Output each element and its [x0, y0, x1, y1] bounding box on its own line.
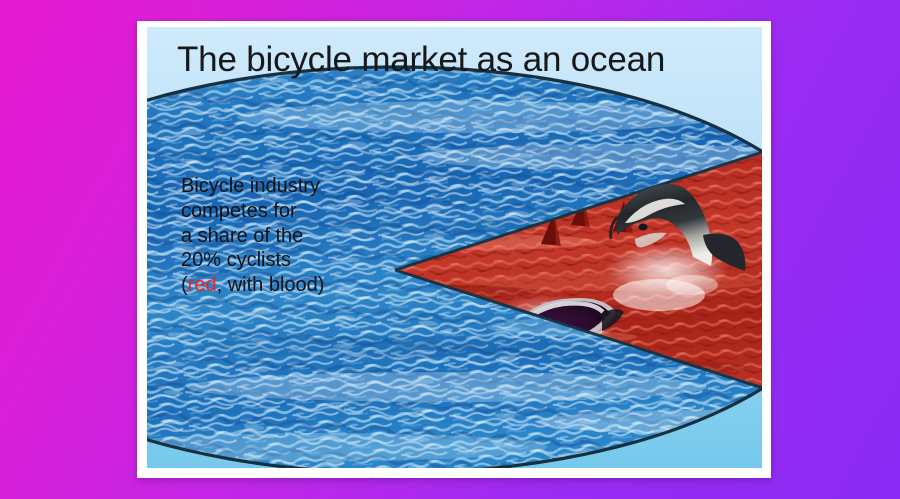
body-text-block: Bicycle industry competes for a share of… — [181, 174, 324, 298]
footnote-red-word: red — [188, 274, 217, 296]
footnote-rest: , with blood) — [217, 274, 325, 296]
body-line-2: competes for — [181, 199, 324, 224]
body-line-3: a share of the — [181, 224, 324, 249]
slide-card: The bicycle market as an ocean Bicycle i… — [137, 21, 771, 478]
slide-canvas: The bicycle market as an ocean Bicycle i… — [0, 0, 900, 499]
slide-panel: The bicycle market as an ocean Bicycle i… — [147, 27, 762, 468]
body-line-1: Bicycle industry — [181, 174, 324, 199]
body-line-4: 20% cyclists — [181, 248, 324, 273]
footnote-open-paren: ( — [181, 274, 188, 296]
page-title: The bicycle market as an ocean — [177, 40, 665, 80]
body-footnote: (red, with blood) — [181, 273, 324, 298]
